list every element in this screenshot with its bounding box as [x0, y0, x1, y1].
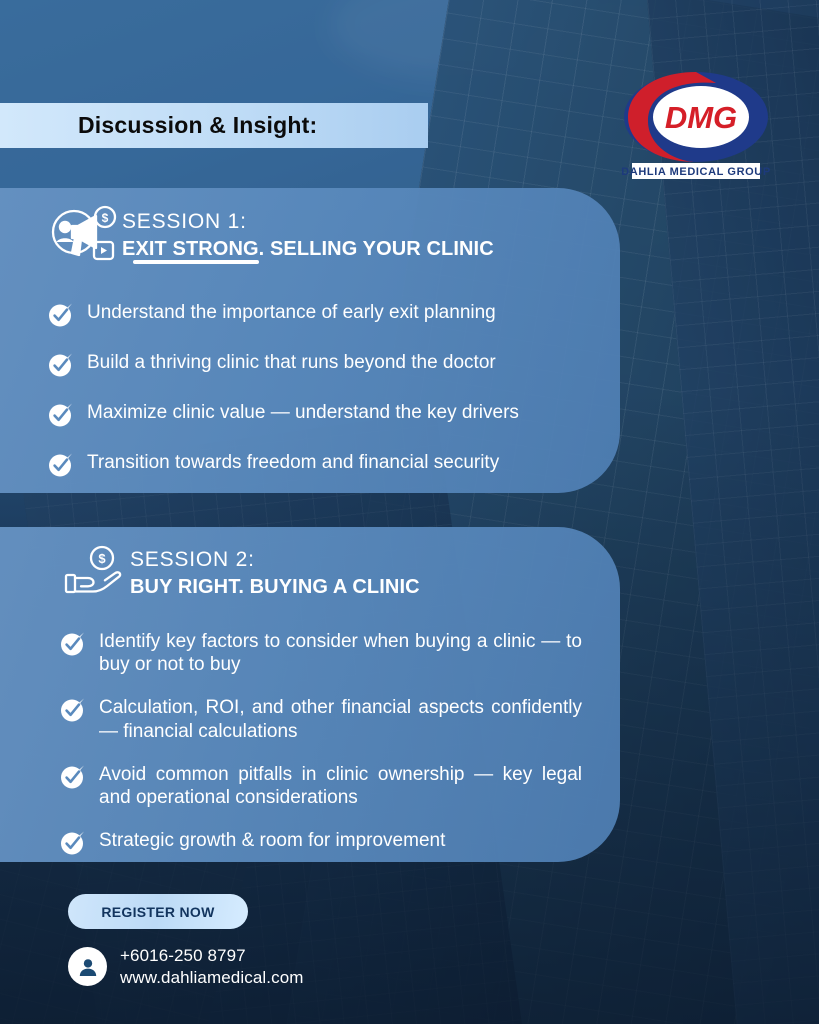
page-title: Discussion & Insight:	[78, 112, 317, 139]
list-item: Understand the importance of early exit …	[48, 301, 620, 333]
header-banner: Discussion & Insight:	[0, 103, 428, 148]
session-2-text: SESSION 2: BUY RIGHT. BUYING A CLINIC	[130, 548, 420, 600]
list-item: Build a thriving clinic that runs beyond…	[48, 351, 620, 383]
session-panel-2: $ SESSION 2: BUY RIGHT. BUYING A CLINIC	[0, 527, 620, 862]
session-panel-1: $ SESSION 1: EXIT STRONG. SELLING YOUR C…	[0, 188, 620, 493]
session-1-title: EXIT STRONG. SELLING YOUR CLINIC	[122, 237, 494, 261]
check-shield-icon	[60, 764, 86, 795]
check-shield-icon	[60, 830, 86, 861]
svg-text:$: $	[102, 211, 109, 225]
session-2-title: BUY RIGHT. BUYING A CLINIC	[130, 575, 420, 599]
session-2-bullets: Identify key factors to consider when bu…	[0, 630, 620, 861]
list-item-text: Build a thriving clinic that runs beyond…	[87, 351, 496, 374]
check-shield-icon	[48, 402, 74, 433]
poster: Discussion & Insight: DMG DAHLIA MEDICAL…	[0, 0, 819, 1024]
title-underline	[133, 260, 259, 264]
contact-block: +6016-250 8797 www.dahliamedical.com	[68, 945, 304, 989]
list-item: Calculation, ROI, and other financial as…	[60, 696, 582, 742]
list-item: Avoid common pitfalls in clinic ownershi…	[60, 763, 582, 809]
list-item-text: Transition towards freedom and financial…	[87, 451, 499, 474]
contact-lines: +6016-250 8797 www.dahliamedical.com	[120, 945, 304, 989]
check-shield-icon	[48, 352, 74, 383]
megaphone-money-icon: $	[48, 204, 118, 267]
list-item-text: Identify key factors to consider when bu…	[99, 630, 582, 676]
person-icon	[68, 947, 107, 986]
check-shield-icon	[48, 302, 74, 333]
check-shield-icon	[48, 452, 74, 483]
check-shield-icon	[60, 631, 86, 662]
list-item: Transition towards freedom and financial…	[48, 451, 620, 483]
svg-text:$: $	[98, 551, 106, 566]
list-item-text: Maximize clinic value — understand the k…	[87, 401, 519, 424]
session-2-header: $ SESSION 2: BUY RIGHT. BUYING A CLINIC	[0, 527, 620, 602]
session-1-header: $ SESSION 1: EXIT STRONG. SELLING YOUR C…	[0, 188, 620, 267]
check-shield-icon	[60, 697, 86, 728]
list-item: Maximize clinic value — understand the k…	[48, 401, 620, 433]
list-item-text: Strategic growth & room for improvement	[99, 829, 445, 852]
session-1-bullets: Understand the importance of early exit …	[0, 301, 620, 483]
list-item-text: Avoid common pitfalls in clinic ownershi…	[99, 763, 582, 809]
session-2-label: SESSION 2:	[130, 548, 420, 573]
contact-phone[interactable]: +6016-250 8797	[120, 945, 304, 967]
session-1-label: SESSION 1:	[122, 210, 494, 235]
list-item-text: Calculation, ROI, and other financial as…	[99, 696, 582, 742]
logo-monogram: DMG	[665, 100, 737, 135]
contact-website[interactable]: www.dahliamedical.com	[120, 967, 304, 989]
list-item: Identify key factors to consider when bu…	[60, 630, 582, 676]
logo-wordmark: DAHLIA MEDICAL GROUP	[621, 166, 771, 178]
register-now-label: REGISTER NOW	[101, 904, 214, 920]
register-now-button[interactable]: REGISTER NOW	[68, 894, 248, 929]
session-1-text: SESSION 1: EXIT STRONG. SELLING YOUR CLI…	[122, 210, 494, 262]
hand-coin-icon: $	[62, 545, 126, 602]
dmg-logo: DMG DAHLIA MEDICAL GROUP	[618, 62, 774, 180]
list-item-text: Understand the importance of early exit …	[87, 301, 496, 324]
list-item: Strategic growth & room for improvement	[60, 829, 582, 861]
